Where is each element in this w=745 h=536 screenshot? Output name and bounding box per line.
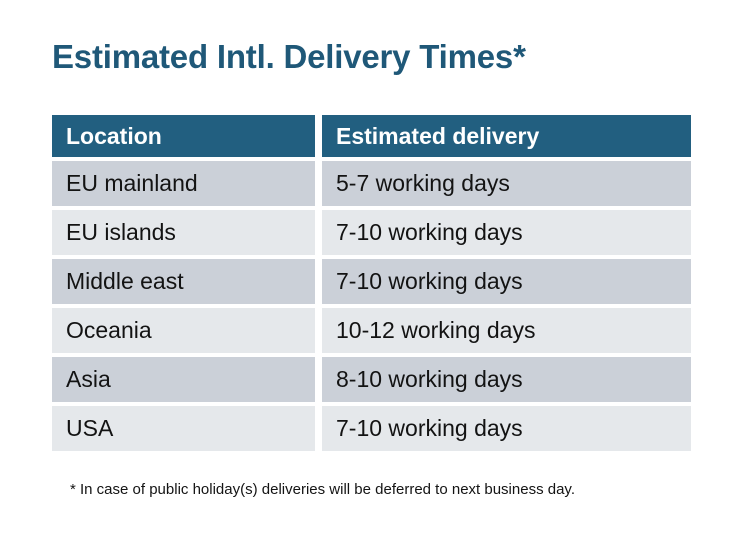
table-row: EU islands 7-10 working days	[52, 210, 691, 255]
cell-estimated-delivery: 5-7 working days	[322, 161, 691, 206]
cell-location: EU mainland	[52, 161, 315, 206]
cell-location: USA	[52, 406, 315, 451]
cell-estimated-delivery: 10-12 working days	[322, 308, 691, 353]
cell-location: EU islands	[52, 210, 315, 255]
table-header-row: Location Estimated delivery	[52, 115, 691, 157]
table-row: USA 7-10 working days	[52, 406, 691, 451]
cell-estimated-delivery: 7-10 working days	[322, 259, 691, 304]
cell-location: Middle east	[52, 259, 315, 304]
cell-estimated-delivery: 8-10 working days	[322, 357, 691, 402]
column-header-location: Location	[52, 115, 315, 157]
table-row: Oceania 10-12 working days	[52, 308, 691, 353]
cell-location: Asia	[52, 357, 315, 402]
cell-estimated-delivery: 7-10 working days	[322, 210, 691, 255]
delivery-times-page: Estimated Intl. Delivery Times* Location…	[0, 0, 745, 536]
column-header-estimated-delivery: Estimated delivery	[322, 115, 691, 157]
cell-location: Oceania	[52, 308, 315, 353]
delivery-times-table: Location Estimated delivery EU mainland …	[52, 115, 691, 455]
table-row: Asia 8-10 working days	[52, 357, 691, 402]
table-row: Middle east 7-10 working days	[52, 259, 691, 304]
footnote-public-holiday: * In case of public holiday(s) deliverie…	[70, 481, 575, 498]
page-title: Estimated Intl. Delivery Times*	[52, 38, 526, 76]
cell-estimated-delivery: 7-10 working days	[322, 406, 691, 451]
table-row: EU mainland 5-7 working days	[52, 161, 691, 206]
